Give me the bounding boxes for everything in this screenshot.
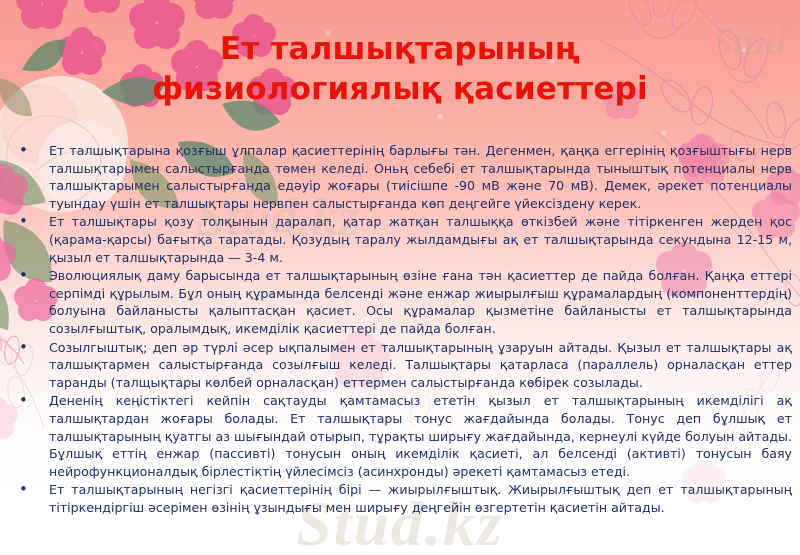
list-item: • Созылгыштық; деп әр түрлі әсер ықпалым…: [0, 339, 800, 392]
title-line-1: Ет талшықтарының: [0, 30, 800, 70]
bullet-icon: •: [14, 481, 49, 499]
slide-title: Ет талшықтарының физиологиялық қасиеттер…: [0, 30, 800, 109]
title-line-2: физиологиялық қасиеттері: [0, 70, 800, 110]
list-item-text: Ет талшықтарының негізгі қасиеттерінің б…: [49, 481, 792, 516]
list-item: • Ет талшықтары қозу толқынын даралап, қ…: [0, 213, 800, 266]
bullet-icon: •: [14, 392, 49, 410]
list-item-text: Созылгыштық; деп әр түрлі әсер ықпалымен…: [49, 339, 792, 392]
bullet-icon: •: [14, 213, 49, 231]
list-item-text: Дененің кеңістіктегі кейпін сақтауды қам…: [49, 392, 792, 480]
list-item: • Ет талшықтарының негізгі қасиеттерінің…: [0, 481, 800, 516]
slide-body: • Ет талшықтарына қозғыш ұлпалар қасиетт…: [0, 142, 800, 517]
list-item: • Дененің кеңістіктегі кейпін сақтауды қ…: [0, 392, 800, 480]
list-item-text: Эволюциялық даму барысында ет талшықтары…: [49, 267, 792, 337]
bullet-icon: •: [14, 339, 49, 357]
list-item-text: Ет талшықтарына қозғыш ұлпалар қасиеттер…: [49, 142, 792, 212]
bullet-icon: •: [14, 267, 49, 285]
presentation-slide: Stud Stud.kz Stud.kz Ет талшықтарының фи…: [0, 0, 800, 555]
list-item-text: Ет талшықтары қозу толқынын даралап, қат…: [49, 213, 792, 266]
list-item: • Ет талшықтарына қозғыш ұлпалар қасиетт…: [0, 142, 800, 212]
list-item: • Эволюциялық даму барысында ет талшықта…: [0, 267, 800, 337]
bullet-icon: •: [14, 142, 49, 160]
